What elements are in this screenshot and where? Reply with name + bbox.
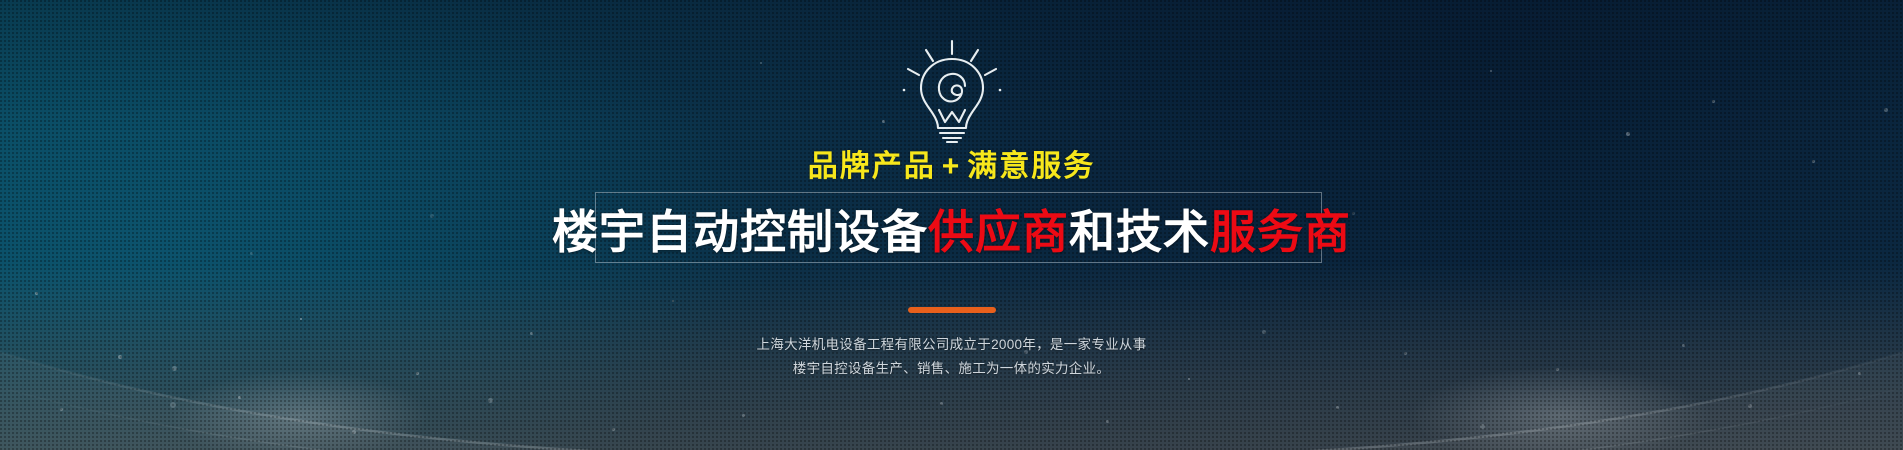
description-line-2: 楼宇自控设备生产、销售、施工为一体的实力企业。 (0, 357, 1903, 381)
description-text: 上海大洋机电设备工程有限公司成立于2000年，是一家专业从事 楼宇自控设备生产、… (0, 333, 1903, 381)
headline-highlight-supplier: 供应商 (928, 206, 1069, 258)
headline-part1: 楼宇自动控制设备 (552, 206, 928, 258)
description-line-1: 上海大洋机电设备工程有限公司成立于2000年，是一家专业从事 (0, 333, 1903, 357)
headline-highlight-service: 服务商 (1210, 206, 1351, 258)
lightbulb-icon (892, 38, 1012, 143)
page-title: 楼宇自动控制设备供应商和技术服务商 (0, 196, 1903, 262)
orange-divider (908, 307, 996, 313)
tagline: 品牌产品+满意服务 (0, 141, 1903, 185)
tagline-separator: + (936, 150, 968, 183)
tagline-right: 满意服务 (967, 150, 1095, 183)
headline-part2: 和技术 (1069, 206, 1210, 258)
hero-banner: 品牌产品+满意服务 楼宇自动控制设备供应商和技术服务商 上海大洋机电设备工程有限… (0, 0, 1903, 450)
tagline-left: 品牌产品 (808, 150, 936, 183)
